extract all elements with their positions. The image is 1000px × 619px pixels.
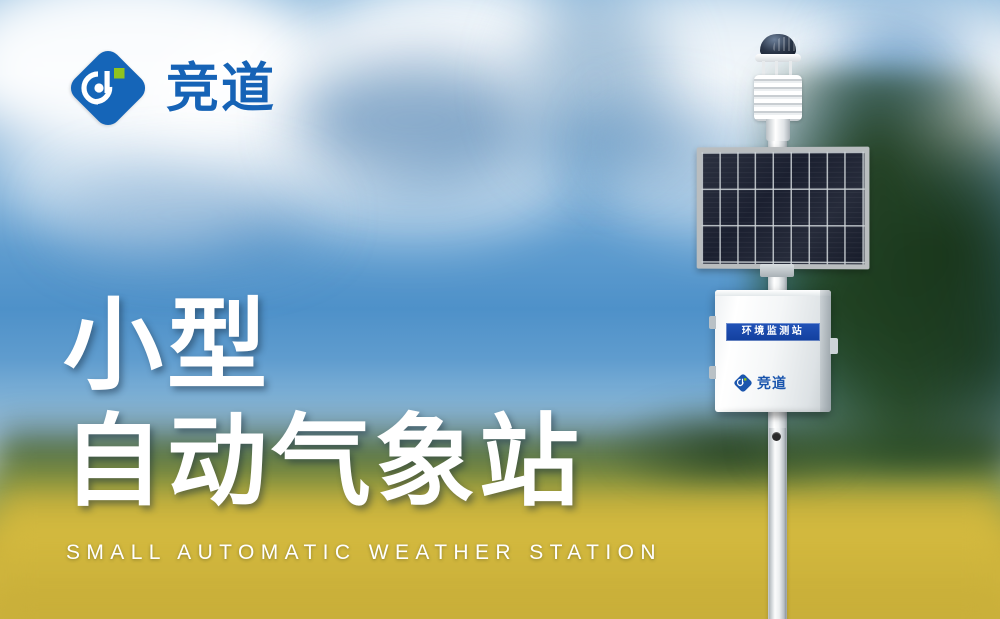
- hero-subtitle-en: SMALL AUTOMATIC WEATHER STATION: [66, 541, 662, 565]
- sensor-dome: [760, 34, 796, 56]
- sensor-dome-pattern: [773, 37, 803, 51]
- solar-panel-icon: [697, 147, 870, 270]
- enclosure-banner: 环境监测站: [726, 323, 820, 341]
- logo-glyph-icon: [733, 373, 752, 392]
- brand-logo: 竞道: [66, 46, 276, 130]
- mast-pole-lower: [769, 428, 786, 619]
- solar-panel-face: [702, 152, 865, 265]
- solar-grid-horizontal: [702, 152, 865, 265]
- cloud-shadow-shape: [300, 60, 530, 180]
- hero-title-line1: 小型: [63, 296, 583, 396]
- hero-title-line2: 自动气象站: [63, 412, 583, 512]
- cloud-shadow-shape: [60, 170, 320, 260]
- banner-image: 竞道 小型 自动气象站 SMALL AUTOMATIC WEATHER STAT…: [0, 0, 1000, 619]
- sensor-stem: [766, 119, 790, 141]
- enclosure-shadow: [717, 411, 829, 417]
- logo-glyph-icon: [66, 46, 150, 130]
- enclosure-brand-logo: 竞道: [733, 373, 787, 392]
- jingdao-diamond-logo-icon: [66, 46, 150, 130]
- mast-bolt-icon: [772, 432, 781, 441]
- solar-panel-bracket: [760, 264, 794, 277]
- jingdao-diamond-logo-icon: [733, 373, 752, 392]
- enclosure-box: 环境监测站 竞道: [715, 290, 831, 412]
- brand-name-cn: 竞道: [166, 62, 276, 115]
- enclosure-banner-text: 环境监测站: [742, 327, 805, 337]
- ultrasonic-weather-sensor-icon: [750, 34, 806, 138]
- enclosure-latch: [830, 338, 838, 354]
- enclosure-hinge-upper: [709, 316, 716, 329]
- weather-station-product: 环境监测站 竞道: [688, 28, 878, 619]
- enclosure-logo-text: 竞道: [757, 376, 787, 390]
- hero-title: 小型 自动气象站: [63, 296, 583, 512]
- radiation-shield-louvers: [754, 75, 802, 121]
- enclosure-hinge-lower: [709, 366, 716, 379]
- enclosure-top-edge: [715, 290, 831, 296]
